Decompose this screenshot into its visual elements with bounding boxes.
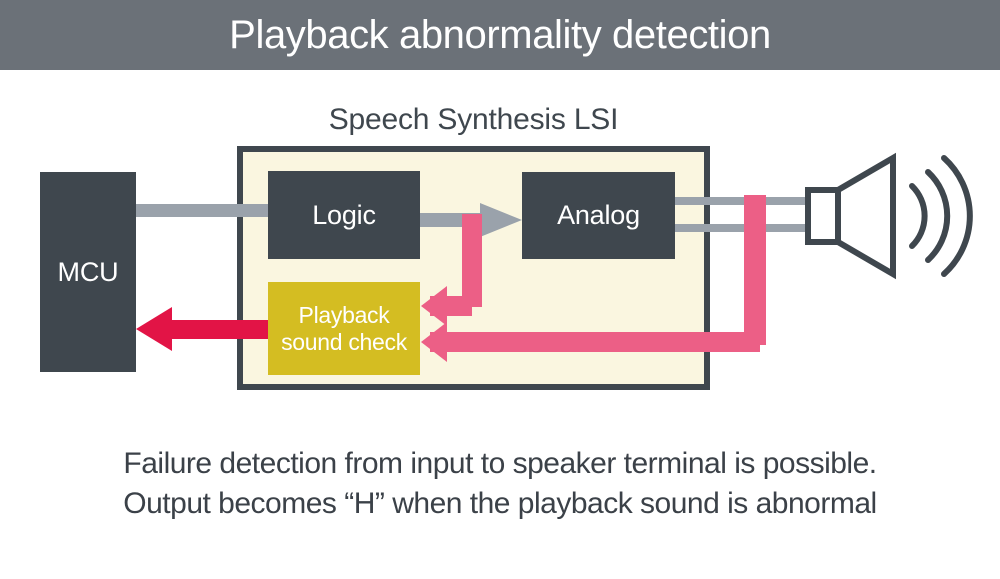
caption-line-1: Failure detection from input to speaker … (0, 444, 1000, 484)
block-mcu[interactable]: MCU (40, 172, 136, 372)
playback-check-label-line1: Playback (299, 302, 390, 328)
output-flag-line-to-mcu (170, 320, 268, 339)
block-playback-sound-check[interactable]: Playback sound check (268, 282, 420, 375)
page-title: Playback abnormality detection (0, 0, 1000, 70)
output-flag-arrowhead-mcu (136, 307, 172, 351)
diagram-canvas: Playback abnormality detection Speech Sy… (0, 0, 1000, 579)
lsi-group-label: Speech Synthesis LSI (237, 103, 710, 137)
caption-line-2: Output becomes “H” when the playback sou… (0, 484, 1000, 524)
wire-analog-to-speaker-bottom (675, 224, 808, 232)
block-logic[interactable]: Logic (268, 171, 420, 259)
playback-check-label-line2: sound check (281, 329, 407, 355)
feedback-line-signal-tap (462, 214, 482, 307)
block-analog[interactable]: Analog (522, 172, 675, 259)
wire-analog-to-speaker-top (675, 197, 808, 205)
feedback-arrowhead-signal-tap (421, 286, 447, 326)
wire-mcu-to-logic (136, 204, 269, 217)
caption: Failure detection from input to speaker … (0, 444, 1000, 523)
feedback-line-speaker-to-check (430, 332, 760, 352)
feedback-line-speaker-terminal (744, 195, 766, 345)
feedback-arrowhead-speaker (421, 322, 447, 362)
speaker-icon (800, 146, 980, 286)
